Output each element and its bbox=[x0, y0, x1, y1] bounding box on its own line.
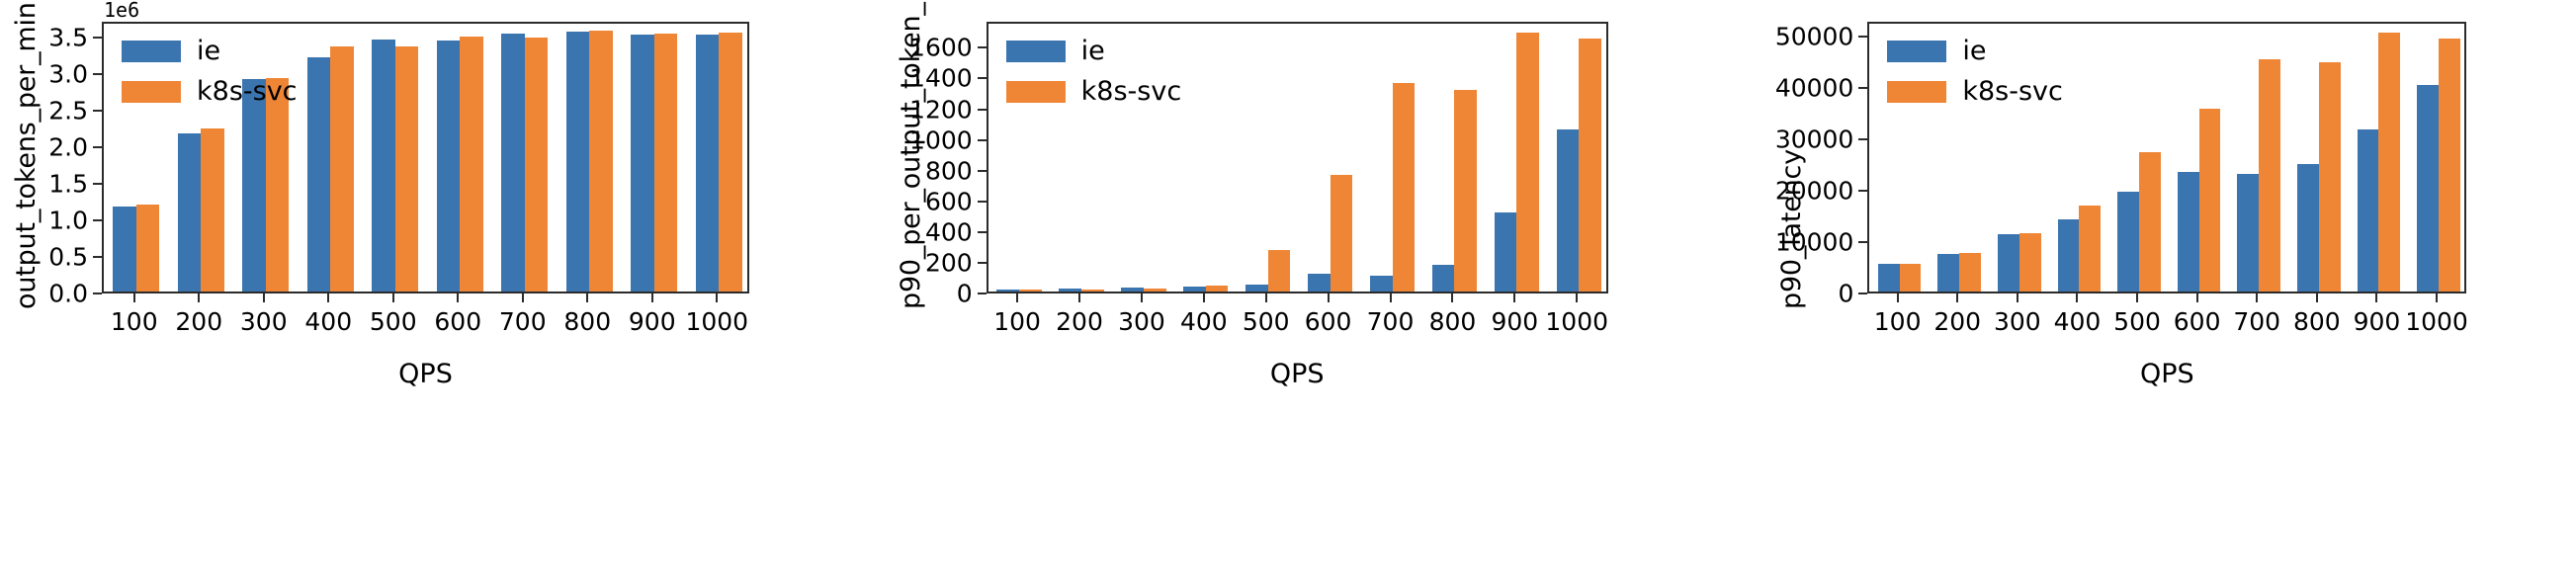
x-axis-label-1: QPS bbox=[987, 359, 1608, 389]
x-tick-label: 700 bbox=[2233, 307, 2280, 336]
y-tick-mark bbox=[93, 292, 102, 294]
bar-k8s-svc-600 bbox=[2199, 109, 2221, 292]
x-tick-mark bbox=[1513, 293, 1515, 302]
bar-ie-800 bbox=[2297, 164, 2319, 292]
x-tick-label: 1000 bbox=[1545, 307, 1608, 336]
bar-k8s-svc-700 bbox=[2259, 59, 2280, 292]
y-tick-label: 200 bbox=[859, 248, 973, 277]
y-tick-label: 20000 bbox=[1717, 177, 1853, 206]
x-tick-label: 500 bbox=[2113, 307, 2161, 336]
x-tick-mark bbox=[651, 293, 653, 302]
y-tick-mark bbox=[93, 183, 102, 185]
bar-k8s-svc-300 bbox=[1144, 289, 1166, 292]
bar-k8s-svc-100 bbox=[1900, 264, 1922, 292]
y-tick-mark bbox=[978, 170, 987, 172]
plot-area-0: ie k8s-svc bbox=[102, 22, 749, 293]
legend-swatch-ie bbox=[1887, 41, 1946, 62]
y-tick-label: 1.5 bbox=[0, 170, 88, 199]
legend-label-ie: ie bbox=[1081, 38, 1105, 64]
x-tick-label: 800 bbox=[563, 307, 611, 336]
bar-k8s-svc-400 bbox=[2079, 206, 2101, 292]
bar-k8s-svc-800 bbox=[589, 31, 613, 292]
x-tick-label: 100 bbox=[993, 307, 1041, 336]
x-tick-label: 700 bbox=[499, 307, 547, 336]
x-axis-label-0: QPS bbox=[102, 359, 749, 389]
bar-k8s-svc-1000 bbox=[2439, 39, 2460, 292]
x-tick-label: 900 bbox=[2354, 307, 2401, 336]
bar-ie-1000 bbox=[1557, 129, 1580, 292]
x-tick-label: 400 bbox=[304, 307, 352, 336]
x-tick-label: 100 bbox=[1874, 307, 1922, 336]
y-tick-label: 2.5 bbox=[0, 97, 88, 125]
x-tick-label: 100 bbox=[111, 307, 158, 336]
y-tick-label: 0 bbox=[1717, 280, 1853, 308]
x-tick-mark bbox=[2316, 293, 2318, 302]
y-tick-label: 10000 bbox=[1717, 228, 1853, 257]
y-tick-mark bbox=[1858, 138, 1867, 140]
legend-label-k8s-svc: k8s-svc bbox=[197, 78, 298, 105]
x-tick-mark bbox=[1016, 293, 1018, 302]
y-tick-mark bbox=[93, 219, 102, 221]
x-tick-label: 200 bbox=[1933, 307, 1981, 336]
y-tick-mark bbox=[978, 201, 987, 203]
x-tick-label: 600 bbox=[2174, 307, 2221, 336]
y-tick-label: 800 bbox=[859, 156, 973, 185]
y-tick-label: 400 bbox=[859, 217, 973, 246]
x-tick-label: 200 bbox=[1056, 307, 1103, 336]
y-tick-label: 1400 bbox=[859, 64, 973, 93]
bar-k8s-svc-200 bbox=[1959, 253, 1981, 292]
x-tick-label: 600 bbox=[1305, 307, 1352, 336]
y-tick-mark bbox=[1858, 190, 1867, 192]
x-tick-mark bbox=[2076, 293, 2078, 302]
legend-1: ie k8s-svc bbox=[1006, 38, 1182, 105]
bar-k8s-svc-900 bbox=[654, 34, 678, 292]
bar-ie-600 bbox=[2178, 172, 2199, 292]
y-tick-label: 0.0 bbox=[0, 280, 88, 308]
legend-label-k8s-svc: k8s-svc bbox=[1962, 78, 2063, 105]
bar-ie-900 bbox=[631, 35, 654, 292]
legend-label-ie: ie bbox=[1962, 38, 1986, 64]
bar-ie-500 bbox=[2117, 192, 2139, 292]
legend-label-k8s-svc: k8s-svc bbox=[1081, 78, 1182, 105]
x-tick-label: 1000 bbox=[2405, 307, 2468, 336]
bar-k8s-svc-100 bbox=[136, 205, 160, 292]
legend-swatch-k8s-svc bbox=[1006, 81, 1066, 103]
y-tick-mark bbox=[978, 77, 987, 79]
chart-panel-p90-per-output-token-latency: p90_per_output_token_latency ie k8s-svc … bbox=[859, 0, 1718, 585]
x-tick-mark bbox=[2017, 293, 2018, 302]
bar-ie-100 bbox=[996, 290, 1019, 292]
figure-three-bar-charts: 1e6 output_tokens_per_min ie k8s-svc QPS… bbox=[0, 0, 2576, 585]
y-tick-mark bbox=[1858, 241, 1867, 243]
bar-ie-800 bbox=[566, 32, 590, 292]
x-tick-label: 300 bbox=[240, 307, 288, 336]
bar-k8s-svc-900 bbox=[1516, 33, 1539, 292]
bar-ie-900 bbox=[2358, 129, 2379, 292]
bar-k8s-svc-800 bbox=[1454, 90, 1477, 292]
x-tick-label: 900 bbox=[1491, 307, 1538, 336]
y-tick-label: 1000 bbox=[859, 125, 973, 154]
x-tick-mark bbox=[133, 293, 135, 302]
bar-ie-800 bbox=[1432, 265, 1455, 292]
x-tick-mark bbox=[1078, 293, 1080, 302]
y-tick-label: 1600 bbox=[859, 34, 973, 62]
bar-ie-100 bbox=[1878, 264, 1900, 292]
bar-ie-700 bbox=[2237, 174, 2259, 292]
bar-ie-300 bbox=[1998, 234, 2019, 292]
x-tick-mark bbox=[263, 293, 265, 302]
y-tick-mark bbox=[93, 256, 102, 258]
x-axis-label-2: QPS bbox=[1867, 359, 2466, 389]
plot-area-2: ie k8s-svc bbox=[1867, 22, 2466, 293]
x-tick-mark bbox=[586, 293, 588, 302]
bar-k8s-svc-500 bbox=[395, 46, 419, 292]
x-tick-mark bbox=[1390, 293, 1392, 302]
y-tick-mark bbox=[978, 109, 987, 111]
y-tick-mark bbox=[978, 46, 987, 48]
bar-ie-1000 bbox=[696, 35, 720, 292]
x-tick-mark bbox=[457, 293, 459, 302]
legend-row-k8s-svc: k8s-svc bbox=[1887, 78, 2063, 105]
x-tick-mark bbox=[522, 293, 524, 302]
x-tick-mark bbox=[392, 293, 394, 302]
x-tick-mark bbox=[1203, 293, 1205, 302]
legend-swatch-k8s-svc bbox=[122, 81, 181, 103]
x-tick-label: 900 bbox=[629, 307, 676, 336]
bar-ie-300 bbox=[242, 79, 266, 292]
legend-swatch-ie bbox=[122, 41, 181, 62]
x-tick-label: 600 bbox=[434, 307, 481, 336]
bar-k8s-svc-900 bbox=[2378, 33, 2400, 292]
legend-row-ie: ie bbox=[1006, 38, 1182, 64]
y-tick-mark bbox=[93, 110, 102, 112]
bar-k8s-svc-400 bbox=[1206, 286, 1229, 292]
y-tick-mark bbox=[1858, 87, 1867, 89]
x-tick-mark bbox=[2136, 293, 2138, 302]
x-tick-label: 400 bbox=[1180, 307, 1228, 336]
legend-swatch-ie bbox=[1006, 41, 1066, 62]
bar-k8s-svc-700 bbox=[525, 38, 549, 292]
y-tick-mark bbox=[1858, 292, 1867, 294]
bar-ie-900 bbox=[1495, 212, 1517, 292]
y-tick-label: 2.0 bbox=[0, 133, 88, 162]
bar-k8s-svc-800 bbox=[2319, 62, 2341, 292]
bar-k8s-svc-1000 bbox=[1579, 39, 1601, 292]
x-tick-mark bbox=[1956, 293, 1958, 302]
bar-ie-400 bbox=[1183, 287, 1206, 292]
bar-ie-500 bbox=[372, 40, 395, 292]
legend-label-ie: ie bbox=[197, 38, 220, 64]
y-tick-label: 0 bbox=[859, 280, 973, 308]
y-tick-mark bbox=[978, 262, 987, 264]
y-tick-label: 0.5 bbox=[0, 243, 88, 272]
x-tick-mark bbox=[2196, 293, 2198, 302]
x-tick-label: 300 bbox=[1994, 307, 2041, 336]
x-tick-mark bbox=[1265, 293, 1267, 302]
bar-k8s-svc-1000 bbox=[719, 33, 742, 292]
y-tick-mark bbox=[978, 139, 987, 141]
y-tick-label: 3.5 bbox=[0, 24, 88, 52]
legend-row-k8s-svc: k8s-svc bbox=[1006, 78, 1182, 105]
x-tick-label: 400 bbox=[2054, 307, 2102, 336]
x-tick-label: 700 bbox=[1367, 307, 1415, 336]
x-tick-label: 500 bbox=[370, 307, 417, 336]
x-tick-mark bbox=[1328, 293, 1330, 302]
x-tick-mark bbox=[1451, 293, 1453, 302]
x-tick-label: 300 bbox=[1118, 307, 1165, 336]
bar-ie-200 bbox=[178, 133, 202, 292]
y-tick-mark bbox=[93, 146, 102, 148]
plot-area-1: ie k8s-svc bbox=[987, 22, 1608, 293]
x-tick-mark bbox=[327, 293, 329, 302]
legend-2: ie k8s-svc bbox=[1887, 38, 2063, 105]
x-tick-mark bbox=[2436, 293, 2438, 302]
y-tick-mark bbox=[93, 37, 102, 39]
legend-row-ie: ie bbox=[122, 38, 298, 64]
bar-ie-1000 bbox=[2417, 85, 2439, 292]
y-tick-label: 40000 bbox=[1717, 74, 1853, 103]
bar-ie-500 bbox=[1245, 285, 1268, 292]
bar-k8s-svc-600 bbox=[460, 37, 483, 292]
bar-k8s-svc-400 bbox=[330, 46, 354, 292]
x-tick-mark bbox=[1576, 293, 1578, 302]
bar-ie-700 bbox=[501, 34, 525, 292]
x-tick-mark bbox=[2375, 293, 2377, 302]
legend-row-ie: ie bbox=[1887, 38, 2063, 64]
bar-k8s-svc-300 bbox=[266, 78, 290, 292]
chart-panel-p90-latency: p90_latency ie k8s-svc QPS 0100002000030… bbox=[1717, 0, 2576, 585]
y-tick-label: 50000 bbox=[1717, 23, 1853, 51]
y-tick-label: 600 bbox=[859, 187, 973, 215]
y-axis-offset-text-0: 1e6 bbox=[104, 0, 139, 22]
x-tick-label: 800 bbox=[1429, 307, 1477, 336]
x-tick-label: 1000 bbox=[685, 307, 748, 336]
legend-swatch-k8s-svc bbox=[1887, 81, 1946, 103]
bar-k8s-svc-200 bbox=[1081, 290, 1104, 292]
chart-panel-output-tokens-per-min: 1e6 output_tokens_per_min ie k8s-svc QPS… bbox=[0, 0, 859, 585]
bar-ie-600 bbox=[1308, 274, 1331, 292]
x-tick-label: 500 bbox=[1243, 307, 1290, 336]
y-tick-label: 1200 bbox=[859, 95, 973, 124]
legend-0: ie k8s-svc bbox=[122, 38, 298, 105]
y-tick-mark bbox=[978, 231, 987, 233]
bar-ie-200 bbox=[1937, 254, 1959, 292]
x-tick-mark bbox=[1141, 293, 1143, 302]
bar-ie-600 bbox=[437, 41, 461, 292]
x-tick-mark bbox=[2256, 293, 2258, 302]
legend-row-k8s-svc: k8s-svc bbox=[122, 78, 298, 105]
y-tick-label: 1.0 bbox=[0, 207, 88, 235]
bar-k8s-svc-300 bbox=[2019, 233, 2041, 292]
x-tick-mark bbox=[198, 293, 200, 302]
bar-ie-300 bbox=[1121, 288, 1144, 292]
x-tick-mark bbox=[716, 293, 718, 302]
y-tick-mark bbox=[93, 73, 102, 75]
bar-k8s-svc-500 bbox=[2139, 152, 2161, 292]
y-tick-label: 30000 bbox=[1717, 125, 1853, 154]
bar-k8s-svc-500 bbox=[1268, 250, 1291, 292]
x-tick-label: 800 bbox=[2293, 307, 2341, 336]
bar-ie-200 bbox=[1059, 289, 1081, 292]
x-tick-label: 200 bbox=[175, 307, 222, 336]
bar-k8s-svc-200 bbox=[201, 128, 224, 292]
y-tick-label: 3.0 bbox=[0, 60, 88, 89]
bar-ie-400 bbox=[307, 57, 331, 292]
bar-ie-400 bbox=[2058, 219, 2080, 292]
bar-k8s-svc-600 bbox=[1331, 175, 1353, 292]
bar-ie-100 bbox=[113, 207, 136, 292]
bar-ie-700 bbox=[1370, 276, 1393, 292]
bar-k8s-svc-700 bbox=[1393, 83, 1416, 292]
y-tick-mark bbox=[978, 292, 987, 294]
bar-k8s-svc-100 bbox=[1019, 290, 1042, 292]
y-tick-mark bbox=[1858, 36, 1867, 38]
x-tick-mark bbox=[1897, 293, 1899, 302]
